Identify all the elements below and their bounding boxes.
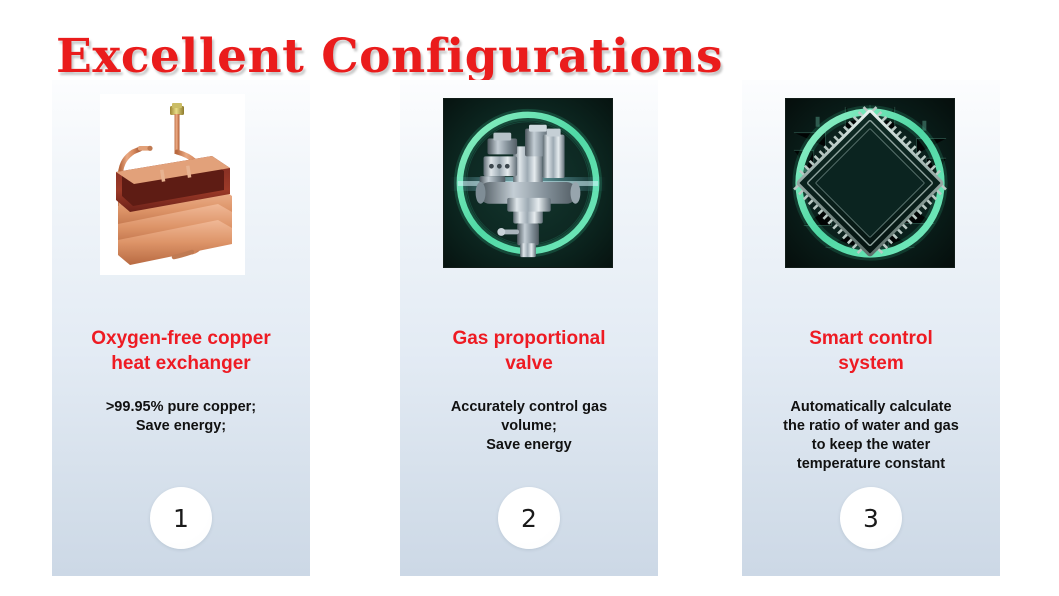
valve-illustration	[444, 99, 612, 267]
smart-control-chip-photo	[785, 98, 955, 268]
card-1-heading: Oxygen-free copper heat exchanger	[52, 326, 310, 376]
card-1-body: >99.95% pure copper; Save energy;	[52, 398, 310, 436]
configuration-cards: Oxygen-free copper heat exchanger >99.95…	[0, 0, 1059, 596]
config-card-3[interactable]: Smart control system Automatically calcu…	[742, 80, 1000, 576]
card-1-number-badge: 1	[150, 487, 212, 549]
copper-heat-exchanger-photo	[100, 94, 245, 275]
card-3-heading: Smart control system	[742, 326, 1000, 376]
card-3-number-badge: 3	[840, 487, 902, 549]
config-card-2[interactable]: Gas proportional valve Accurately contro…	[400, 80, 658, 576]
config-card-1[interactable]: Oxygen-free copper heat exchanger >99.95…	[52, 80, 310, 576]
card-2-number-badge: 2	[498, 487, 560, 549]
gas-proportional-valve-photo	[443, 98, 613, 268]
heat-exchanger-illustration	[100, 94, 245, 275]
microchip-illustration	[786, 99, 954, 267]
card-3-body: Automatically calculate the ratio of wat…	[742, 398, 1000, 474]
card-2-body: Accurately control gas volume; Save ener…	[400, 398, 658, 455]
card-2-heading: Gas proportional valve	[400, 326, 658, 376]
